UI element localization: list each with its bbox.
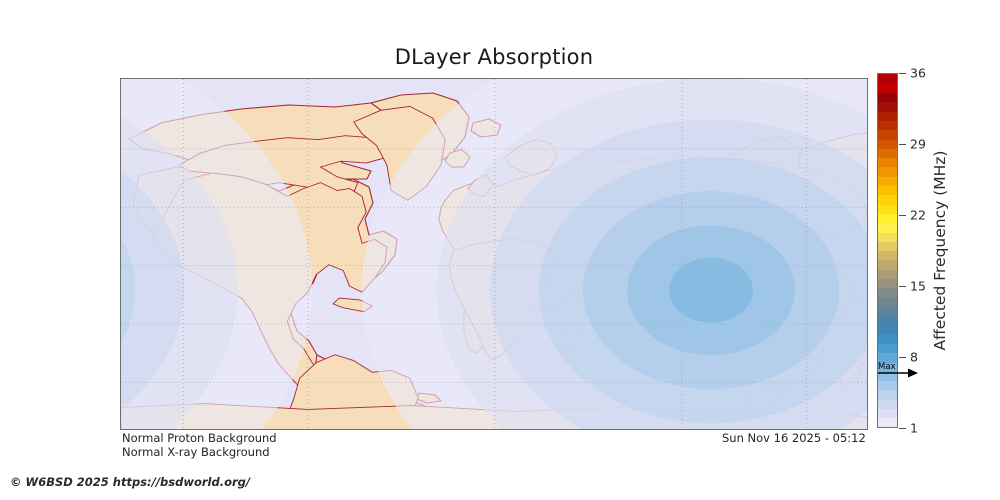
colorbar-segment <box>878 139 897 149</box>
colorbar-segment <box>878 204 897 214</box>
colorbar-tick-mark <box>899 357 906 358</box>
colorbar-tick-label: 1 <box>910 421 918 436</box>
colorbar-segment <box>878 232 897 242</box>
colorbar-segment <box>878 343 897 353</box>
colorbar-segment <box>878 74 897 84</box>
colorbar-segment <box>878 316 897 326</box>
colorbar-segment <box>878 102 897 112</box>
colorbar-tick-label: 8 <box>910 350 918 365</box>
graticule-lines <box>121 79 868 430</box>
colorbar-segment <box>878 223 897 233</box>
colorbar-segment <box>878 278 897 288</box>
colorbar-segment <box>878 381 897 391</box>
colorbar-segment <box>878 288 897 298</box>
timestamp: Sun Nov 16 2025 - 05:12 <box>722 431 866 445</box>
copyright-notice: © W6BSD 2025 https://bsdworld.org/ <box>10 475 250 489</box>
colorbar-tick-label: 29 <box>910 137 926 152</box>
colorbar-segment <box>878 334 897 344</box>
colorbar-segment <box>878 371 897 381</box>
colorbar-segment <box>878 185 897 195</box>
colorbar-tick-label: 22 <box>910 208 926 223</box>
colorbar-segment <box>878 297 897 307</box>
colorbar-tick-mark <box>899 428 906 429</box>
colorbar-tick-label: 36 <box>910 66 926 81</box>
colorbar-segment <box>878 251 897 261</box>
colorbar[interactable] <box>877 73 898 428</box>
colorbar-segment <box>878 167 897 177</box>
map-canvas <box>121 79 867 429</box>
colorbar-segment <box>878 176 897 186</box>
colorbar-gradient <box>878 74 897 427</box>
colorbar-tick-mark <box>899 286 906 287</box>
dlayer-absorption-figure: DLayer Absorption <box>0 0 1000 500</box>
colorbar-segment <box>878 195 897 205</box>
colorbar-segment <box>878 390 897 400</box>
colorbar-segment <box>878 408 897 418</box>
colorbar-axis-label: Affected Frequency (MHz) <box>930 73 951 428</box>
colorbar-tick-mark <box>899 73 906 74</box>
colorbar-segment <box>878 418 897 428</box>
colorbar-tick-label: 15 <box>910 279 926 294</box>
colorbar-segment <box>878 120 897 130</box>
colorbar-segment <box>878 306 897 316</box>
world-map-axes[interactable] <box>120 78 868 430</box>
colorbar-segment <box>878 213 897 223</box>
colorbar-segment <box>878 260 897 270</box>
colorbar-segment <box>878 241 897 251</box>
colorbar-segment <box>878 269 897 279</box>
colorbar-segment <box>878 362 897 372</box>
colorbar-segment <box>878 148 897 158</box>
colorbar-segment <box>878 158 897 168</box>
proton-background-note: Normal Proton Background <box>122 431 277 445</box>
colorbar-segment <box>878 399 897 409</box>
colorbar-tick-mark <box>899 215 906 216</box>
colorbar-segment <box>878 353 897 363</box>
xray-background-note: Normal X-ray Background <box>122 445 270 459</box>
colorbar-segment <box>878 325 897 335</box>
colorbar-tick-mark <box>899 144 906 145</box>
colorbar-segment <box>878 111 897 121</box>
colorbar-segment <box>878 130 897 140</box>
colorbar-segment <box>878 83 897 93</box>
colorbar-segment <box>878 93 897 103</box>
page-title: DLayer Absorption <box>120 45 868 69</box>
